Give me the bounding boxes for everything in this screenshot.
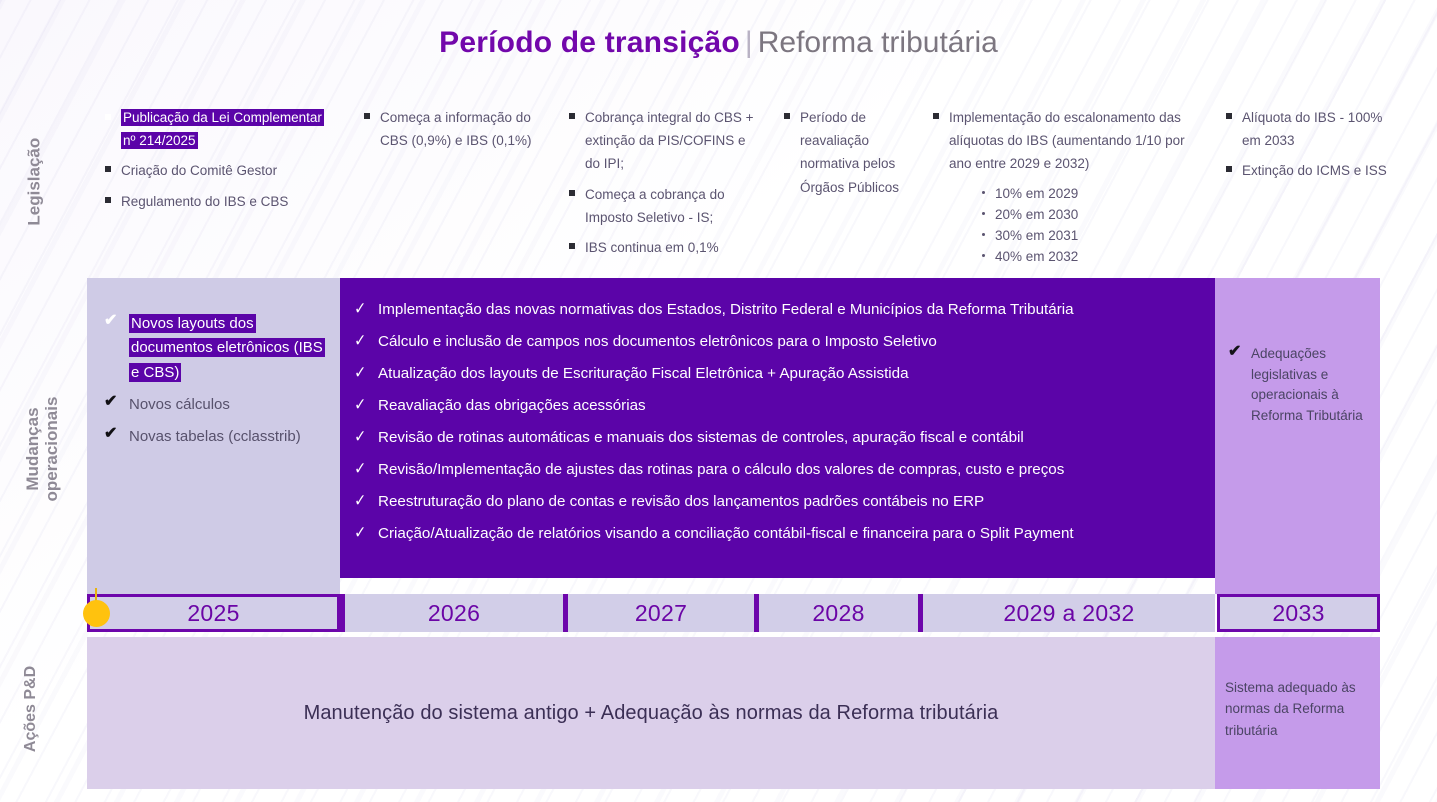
legislation-bullet-text: Cobrança integral do CBS + extinção da P… (585, 110, 753, 171)
legislation-bullet: Alíquota do IBS - 100% em 2033 (1225, 106, 1390, 152)
bullet-square-icon (569, 243, 575, 249)
legislation-bullet: Criação do Comitê Gestor (104, 159, 334, 182)
operational-item-text: Cálculo e inclusão de campos nos documen… (378, 333, 937, 350)
bullet-square-icon (105, 197, 111, 203)
operational-item-text: Revisão/Implementação de ajustes das rot… (378, 461, 1064, 478)
year-cell-2029-2032[interactable]: 2029 a 2032 (923, 594, 1215, 632)
check-icon: ✔ (104, 424, 117, 445)
check-icon: ✔ (104, 311, 117, 332)
legislation-bullet-text: Regulamento do IBS e CBS (121, 194, 288, 209)
bullet-square-icon (569, 190, 575, 196)
actions-rd-main-text: Manutenção do sistema antigo + Adequação… (304, 702, 999, 725)
legislation-bullet: Extinção do ICMS e ISS (1225, 159, 1390, 182)
rate-item: 30% em 2031 (980, 225, 1202, 246)
legislation-row: Publicação da Lei Complementar nº 214/20… (0, 106, 1437, 271)
legislation-bullet: Começa a cobrança do Imposto Seletivo - … (568, 183, 758, 229)
year-cell-2028[interactable]: 2028 (759, 594, 918, 632)
bullet-square-icon (784, 113, 790, 119)
page-title: Período de transição|Reforma tributária (0, 26, 1437, 60)
operational-item-text: Novas tabelas (cclasstrib) (129, 428, 301, 445)
legislation-bullet: Começa a informação do CBS (0,9%) e IBS … (363, 106, 558, 152)
legislation-bullet-text: Publicação da Lei Complementar nº 214/20… (121, 109, 324, 149)
legislation-bullet-text: Começa a cobrança do Imposto Seletivo - … (585, 187, 725, 225)
year-cell-2033[interactable]: 2033 (1217, 594, 1380, 632)
operational-item: ✔ Novas tabelas (cclasstrib) (101, 425, 326, 449)
legislation-bullet: Publicação da Lei Complementar nº 214/20… (104, 106, 334, 152)
legislation-bullet: IBS continua em 0,1% (568, 236, 758, 259)
bullet-square-icon (105, 166, 111, 172)
check-icon: ✓ (354, 394, 366, 415)
rate-text: 30% em 2031 (995, 228, 1078, 243)
year-cell-2025[interactable]: 2025 (87, 594, 340, 632)
operational-item: ✔ Adequações legislativas e operacionais… (1225, 344, 1368, 426)
check-icon: ✓ (354, 522, 366, 543)
operational-item: ✓ Reestruturação do plano de contas e re… (352, 492, 1199, 511)
legislation-bullet: Regulamento do IBS e CBS (104, 190, 334, 213)
legislation-bullet: Cobrança integral do CBS + extinção da P… (568, 106, 758, 176)
operational-item: ✔ Novos layouts dos documentos eletrônic… (101, 312, 326, 385)
bullet-dot-icon (982, 212, 985, 215)
rate-text: 20% em 2030 (995, 207, 1078, 222)
operational-item-text: Novos cálculos (129, 396, 230, 413)
check-icon: ✓ (354, 426, 366, 447)
operational-item: ✓ Atualização dos layouts de Escrituraçã… (352, 364, 1199, 383)
operational-item-text: Adequações legislativas e operacionais à… (1251, 346, 1363, 423)
operational-item-text: Atualização dos layouts de Escrituração … (378, 365, 909, 382)
year-cell-2026[interactable]: 2026 (345, 594, 563, 632)
operational-panel-2026-2032: ✓ Implementação das novas normativas dos… (340, 278, 1215, 578)
check-icon: ✓ (354, 298, 366, 319)
bullet-square-icon (105, 114, 111, 120)
operational-panel-2033: ✔ Adequações legislativas e operacionais… (1215, 278, 1380, 594)
slide-canvas: Período de transição|Reforma tributária … (0, 0, 1437, 802)
operational-item: ✓ Cálculo e inclusão de campos nos docum… (352, 332, 1199, 351)
page-title-strong: Período de transição (439, 26, 740, 59)
check-icon: ✔ (104, 392, 117, 413)
year-timeline: 2025 2026 2027 2028 2029 a 2032 2033 (0, 594, 1437, 634)
bullet-dot-icon (982, 233, 985, 236)
rate-text: 40% em 2032 (995, 249, 1078, 264)
actions-rd-row: Manutenção do sistema antigo + Adequação… (87, 637, 1380, 789)
legislation-bullet-text: Alíquota do IBS - 100% em 2033 (1242, 110, 1382, 148)
legislation-bullet-text: Criação do Comitê Gestor (121, 163, 277, 178)
operational-item: ✔ Novos cálculos (101, 393, 326, 417)
operational-item-text: Reavaliação das obrigações acessórias (378, 397, 646, 414)
operational-item: ✓ Revisão de rotinas automáticas e manua… (352, 428, 1199, 447)
legislation-column-2029-2032: Implementação do escalonamento das alíqu… (932, 106, 1202, 267)
operational-item: ✓ Criação/Atualização de relatórios visa… (352, 524, 1199, 543)
operational-item: ✓ Implementação das novas normativas dos… (352, 300, 1199, 319)
actions-rd-2033-text: Sistema adequado às normas da Reforma tr… (1225, 677, 1368, 741)
check-icon: ✓ (354, 458, 366, 479)
rate-text: 10% em 2029 (995, 186, 1078, 201)
check-icon: ✓ (354, 330, 366, 351)
bullet-square-icon (1226, 166, 1232, 172)
legislation-bullet-text: Extinção do ICMS e ISS (1242, 163, 1387, 178)
operational-item: ✓ Reavaliação das obrigações acessórias (352, 396, 1199, 415)
legislation-bullet-text: IBS continua em 0,1% (585, 240, 719, 255)
actions-rd-main-panel: Manutenção do sistema antigo + Adequação… (87, 637, 1215, 789)
operational-item: ✓ Revisão/Implementação de ajustes das r… (352, 460, 1199, 479)
legislation-column-2025: Publicação da Lei Complementar nº 214/20… (104, 106, 334, 220)
actions-rd-2033-panel: Sistema adequado às normas da Reforma tr… (1215, 637, 1380, 789)
rate-item: 40% em 2032 (980, 246, 1202, 267)
legislation-bullet-text: Implementação do escalonamento das alíqu… (949, 110, 1185, 171)
operational-item-text: Revisão de rotinas automáticas e manuais… (378, 429, 1024, 446)
bullet-dot-icon (982, 191, 985, 194)
bullet-square-icon (364, 113, 370, 119)
check-icon: ✔ (1228, 342, 1241, 363)
operational-changes-row: ✔ Novos layouts dos documentos eletrônic… (0, 278, 1437, 594)
bullet-square-icon (569, 113, 575, 119)
bullet-square-icon (1226, 113, 1232, 119)
operational-item-text: Implementação das novas normativas dos E… (378, 301, 1074, 318)
legislation-bullet: Implementação do escalonamento das alíqu… (932, 106, 1202, 176)
legislation-bullet: Período de reavaliação normativa pelos Ó… (783, 106, 918, 199)
page-title-light: Reforma tributária (758, 26, 998, 59)
legislation-column-2033: Alíquota do IBS - 100% em 2033 Extinção … (1225, 106, 1390, 190)
timeline-current-marker (83, 600, 110, 627)
year-cell-2027[interactable]: 2027 (568, 594, 754, 632)
rate-item: 10% em 2029 (980, 183, 1202, 204)
operational-item-text: Novos layouts dos documentos eletrônicos… (129, 314, 325, 382)
check-icon: ✓ (354, 362, 366, 383)
row-label-actions-rd: Ações P&D (22, 664, 40, 754)
operational-panel-2025: ✔ Novos layouts dos documentos eletrônic… (87, 278, 340, 594)
legislation-bullet-text: Começa a informação do CBS (0,9%) e IBS … (380, 110, 532, 148)
operational-item-text: Reestruturação do plano de contas e revi… (378, 493, 984, 510)
legislation-column-2028: Período de reavaliação normativa pelos Ó… (783, 106, 918, 206)
page-title-separator: | (740, 26, 758, 59)
legislation-sublist-rates: 10% em 2029 20% em 2030 30% em 2031 40% … (980, 183, 1202, 268)
bullet-square-icon (933, 113, 939, 119)
legislation-bullet-text: Período de reavaliação normativa pelos Ó… (800, 110, 899, 195)
legislation-column-2027: Cobrança integral do CBS + extinção da P… (568, 106, 758, 266)
check-icon: ✓ (354, 490, 366, 511)
operational-item-text: Criação/Atualização de relatórios visand… (378, 525, 1074, 542)
bullet-dot-icon (982, 254, 985, 257)
rate-item: 20% em 2030 (980, 204, 1202, 225)
legislation-column-2026: Começa a informação do CBS (0,9%) e IBS … (363, 106, 558, 159)
